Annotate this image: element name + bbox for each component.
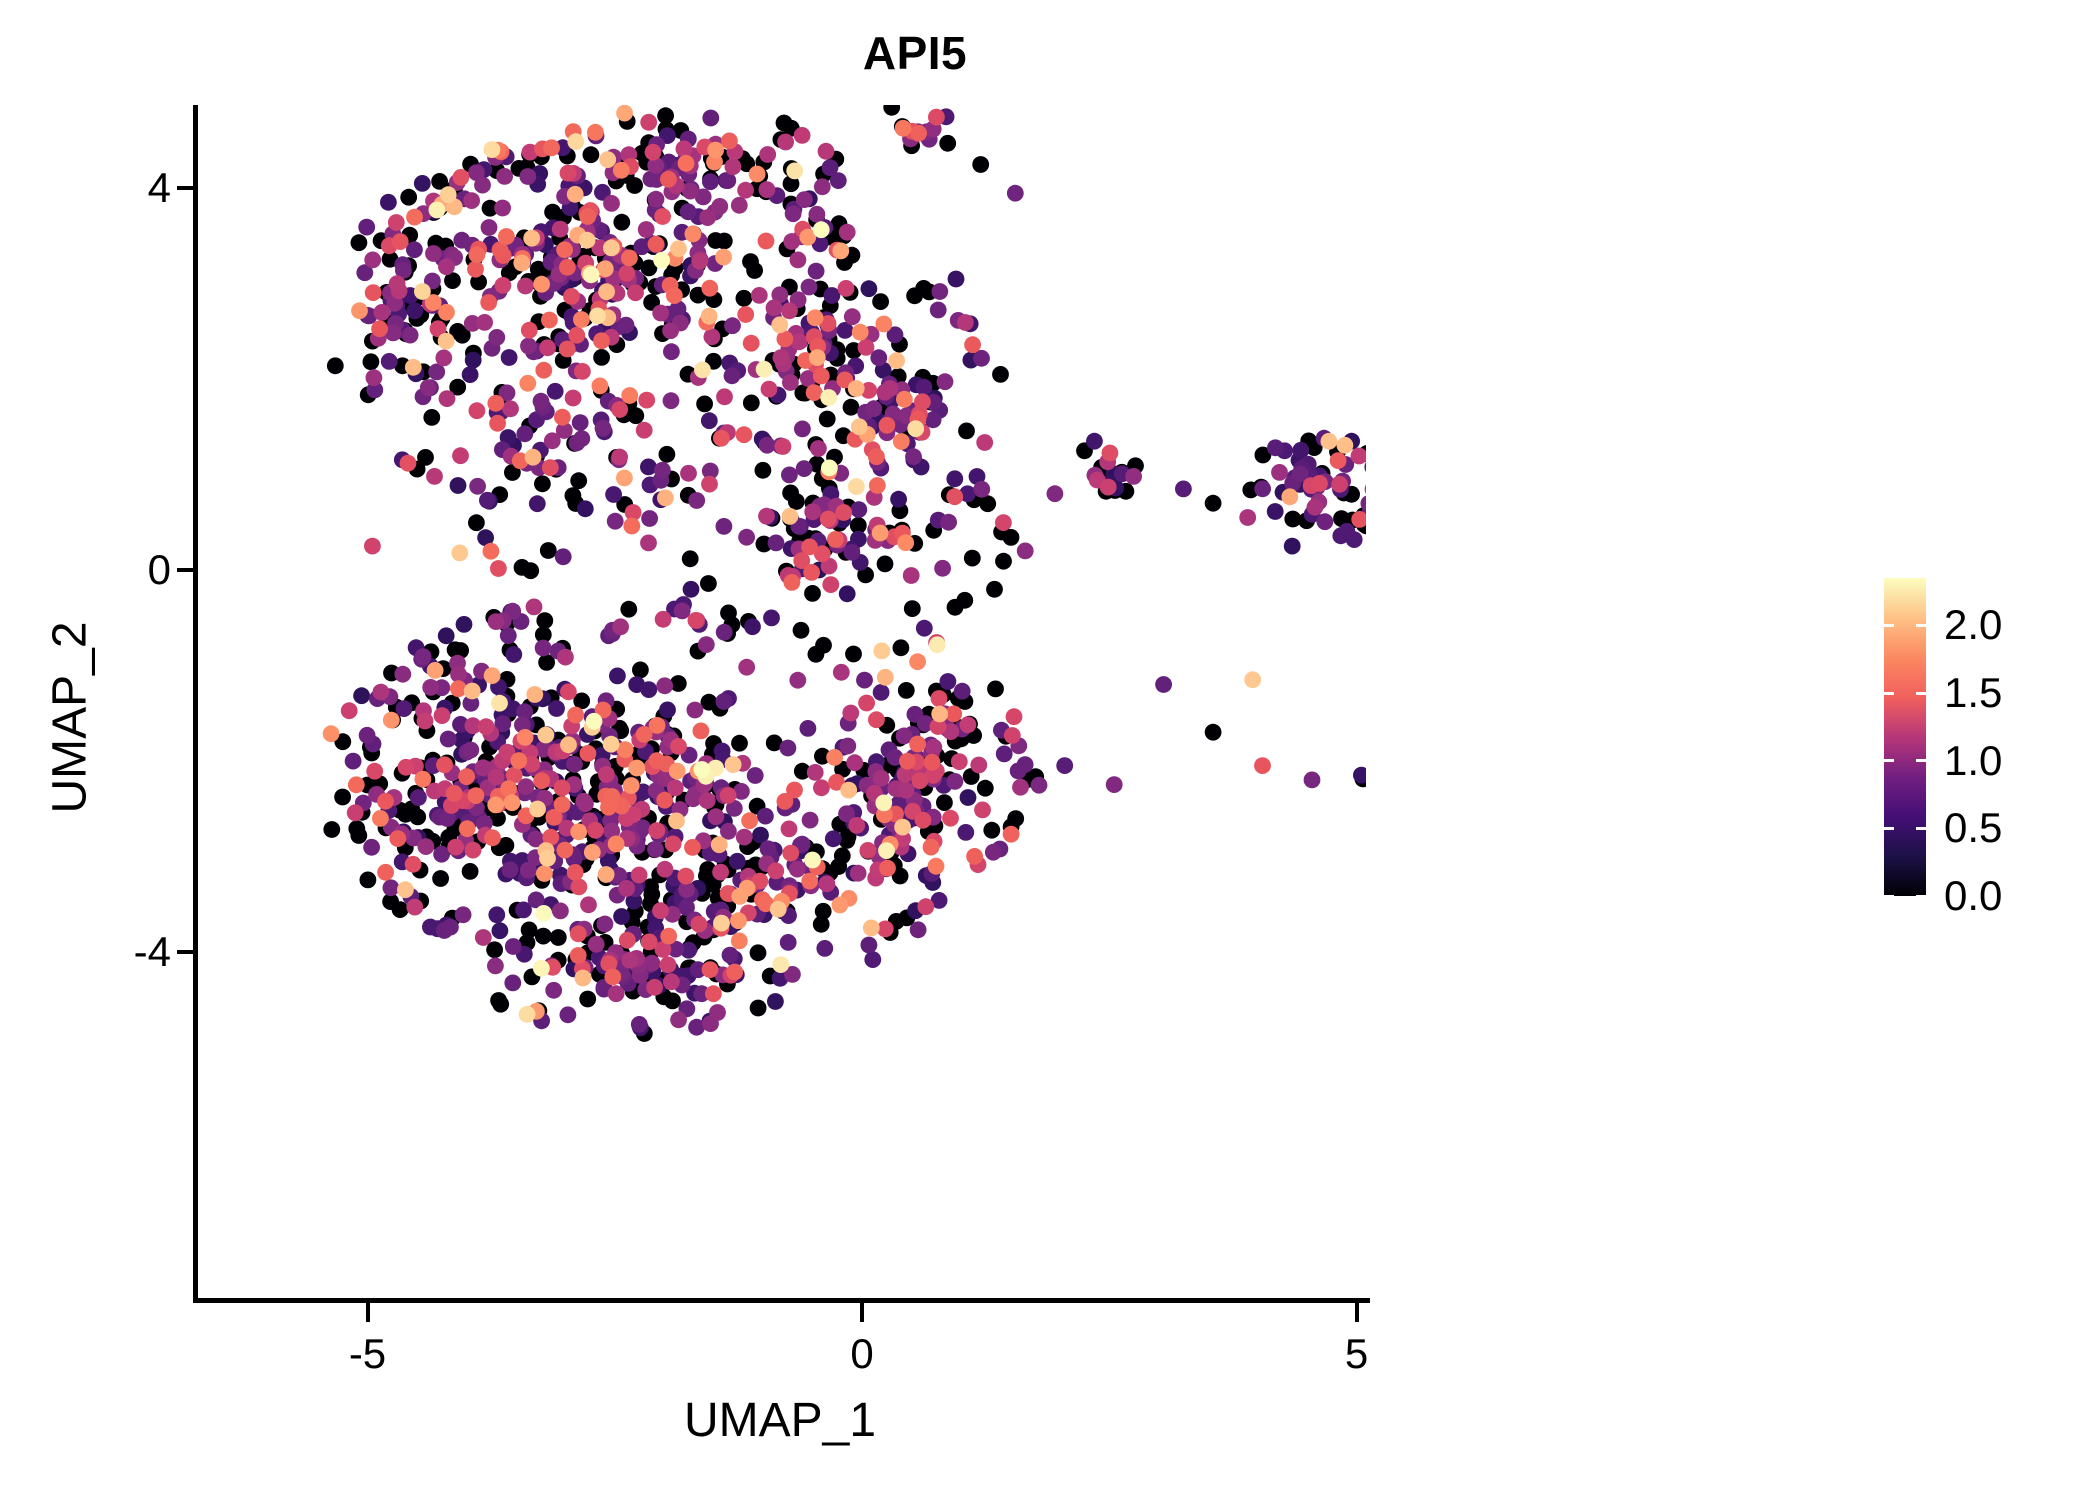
colorbar-tick-mark: [1884, 759, 1894, 762]
y-tick-mark: [177, 568, 196, 572]
colorbar-tick-mark: [1916, 692, 1926, 695]
y-tick-mark: [177, 186, 196, 190]
y-tick-label: 4: [0, 167, 171, 209]
colorbar-tick-mark: [1916, 624, 1926, 627]
y-tick-mark: [177, 950, 196, 954]
scatter-plot-panel: [196, 105, 1366, 1301]
page-title: API5: [0, 26, 1830, 80]
colorbar-tick-label: 0.5: [1944, 807, 2002, 849]
colorbar-tick-mark: [1884, 624, 1894, 627]
figure-root: API5 40-4 -505 UMAP_1 UMAP_2 2.01.51.00.…: [0, 0, 2100, 1500]
colorbar-tick-label: 0.0: [1944, 875, 2002, 917]
x-tick-label: -5: [268, 1333, 468, 1375]
colorbar-tick-mark: [1916, 759, 1926, 762]
y-axis-spine: [193, 105, 198, 1303]
x-tick-mark: [366, 1303, 370, 1322]
colorbar-tick-mark: [1916, 827, 1926, 830]
x-tick-label: 5: [1257, 1333, 1457, 1375]
colorbar-tick-mark: [1884, 827, 1894, 830]
x-tick-mark: [1355, 1303, 1359, 1322]
scatter-points-layer: [196, 105, 1366, 1301]
x-tick-mark: [860, 1303, 864, 1322]
colorbar-tick-mark: [1884, 692, 1894, 695]
x-tick-label: 0: [762, 1333, 962, 1375]
colorbar-tick-mark: [1884, 895, 1894, 898]
x-axis-title: UMAP_1: [0, 1393, 1560, 1448]
y-axis-title: UMAP_2: [43, 338, 98, 1098]
x-axis-spine: [193, 1298, 1370, 1303]
colorbar-tick-label: 2.0: [1944, 604, 2002, 646]
colorbar-tick-mark: [1916, 895, 1926, 898]
colorbar-tick-label: 1.5: [1944, 672, 2002, 714]
colorbar-tick-label: 1.0: [1944, 740, 2002, 782]
